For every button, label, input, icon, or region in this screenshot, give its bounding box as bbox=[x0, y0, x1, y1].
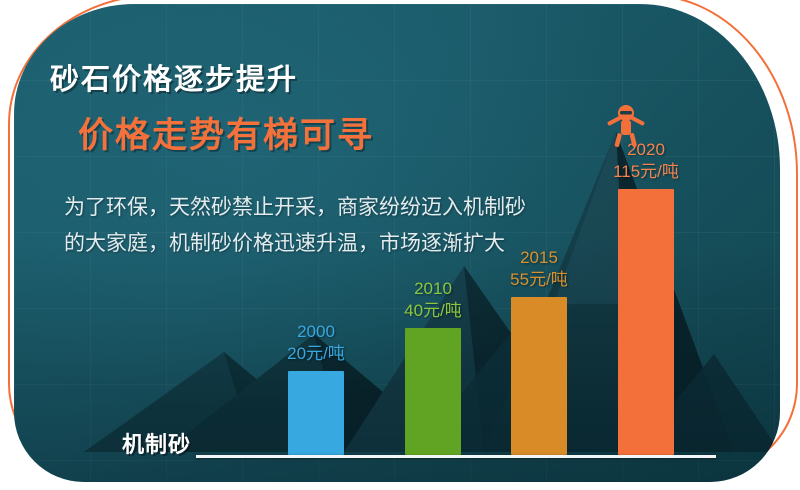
bar-year-2015: 2015 bbox=[520, 248, 558, 267]
bar-label-2015: 2015 55元/吨 bbox=[469, 247, 609, 291]
chart-axis-caption: 机制砂 bbox=[122, 427, 191, 459]
bar-2010 bbox=[405, 328, 461, 455]
bar-year-2000: 2000 bbox=[297, 322, 335, 341]
bar-label-2000: 2000 20元/吨 bbox=[246, 321, 386, 365]
bar-year-2010: 2010 bbox=[414, 279, 452, 298]
bar-group-2015: 2015 55元/吨 bbox=[511, 55, 567, 455]
bar-group-2010: 2010 40元/吨 bbox=[405, 55, 461, 455]
chart-axis-line bbox=[196, 455, 716, 458]
bar-group-2000: 2000 20元/吨 bbox=[288, 55, 344, 455]
infographic-poster: 砂石价格逐步提升 价格走势有梯可寻 为了环保，天然砂禁止开采，商家纷纷迈入机制砂… bbox=[0, 0, 800, 490]
bar-value-2000: 20元/吨 bbox=[287, 344, 345, 363]
bar-2020 bbox=[618, 189, 674, 455]
poster-card: 砂石价格逐步提升 价格走势有梯可寻 为了环保，天然砂禁止开采，商家纷纷迈入机制砂… bbox=[14, 4, 780, 482]
celebrating-person-icon bbox=[602, 102, 650, 150]
bar-value-2010: 40元/吨 bbox=[404, 301, 462, 320]
bar-value-2015: 55元/吨 bbox=[510, 270, 568, 289]
bar-chart: 2000 20元/吨 2010 40元/吨 2015 55元/吨 bbox=[14, 4, 780, 482]
bar-value-2020: 115元/吨 bbox=[613, 162, 679, 181]
bar-2000 bbox=[288, 371, 344, 455]
bar-2015 bbox=[511, 297, 567, 455]
